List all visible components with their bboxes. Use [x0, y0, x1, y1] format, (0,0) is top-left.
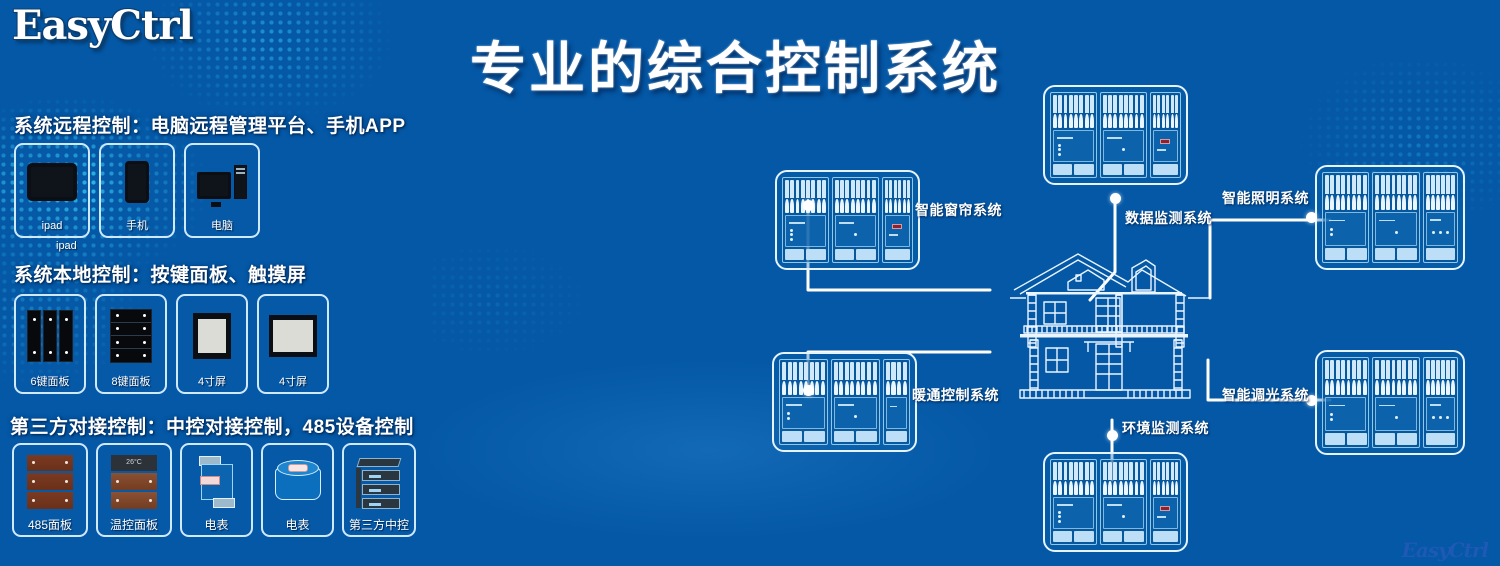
din-module-unit — [1372, 172, 1419, 263]
device-card-label: 电表 — [285, 518, 309, 532]
connector-node-environment — [1107, 430, 1118, 441]
diagram-label-lighting: 智能照明系统 — [1222, 188, 1309, 208]
device-card-label: 手机 — [126, 219, 148, 233]
din-module-unit — [882, 177, 913, 263]
poster-canvas: EasyCtrl 专业的综合控制系统 系统远程控制：电脑远程管理平台、手机APP… — [0, 0, 1500, 566]
diagram-label-hvac: 暖通控制系统 — [912, 385, 999, 405]
third-party-central-control-icon — [344, 445, 414, 518]
four-inch-screen-icon — [178, 296, 246, 375]
module-card-dimming[interactable] — [1315, 350, 1465, 455]
electric-meter-icon — [182, 445, 251, 518]
device-card-ipad[interactable]: ipad — [14, 143, 90, 238]
module-card-curtain[interactable] — [775, 170, 920, 270]
din-module-unit — [883, 359, 910, 445]
device-card-label: 4寸屏 — [279, 375, 307, 389]
device-card-4inch-screen[interactable]: 4寸屏 — [176, 294, 248, 394]
device-card-label: 6键面板 — [30, 375, 69, 389]
module-card-hvac[interactable] — [772, 352, 917, 452]
device-card-label: 8键面板 — [111, 375, 150, 389]
din-module-unit — [1150, 92, 1181, 178]
din-module-unit — [1150, 459, 1181, 545]
section-heading-third-party: 第三方对接控制：中控对接控制，485设备控制 — [10, 412, 414, 439]
device-card-label: 第三方中控 — [349, 518, 409, 532]
device-card-8key-panel[interactable]: 8键面板 — [95, 294, 167, 394]
device-card-electric-meter[interactable]: 电表 — [180, 443, 253, 537]
diagram-label-curtain: 智能窗帘系统 — [915, 200, 1002, 220]
thermostat-display-value: 26°C — [111, 455, 157, 472]
device-card-computer[interactable]: 电脑 — [184, 143, 260, 238]
module-card-environment[interactable] — [1043, 452, 1188, 552]
device-card-thermostat-panel[interactable]: 26°C 温控面板 — [96, 443, 172, 537]
watermark-logo: EasyCtrl — [1402, 538, 1488, 562]
din-module-unit — [1050, 92, 1097, 178]
din-module-unit — [1322, 357, 1369, 448]
din-module-unit — [1372, 357, 1419, 448]
din-module-unit — [831, 359, 880, 445]
connector-node-data-monitoring — [1110, 193, 1121, 204]
device-card-label: ipad — [42, 219, 63, 233]
din-module-unit — [1100, 92, 1147, 178]
section-heading-local-control: 系统本地控制：按键面板、触摸屏 — [14, 260, 307, 287]
device-card-label: 485面板 — [28, 518, 72, 532]
four-inch-screen-wide-icon — [259, 296, 327, 375]
tablet-icon — [16, 145, 88, 219]
device-card-4inch-screen-wide[interactable]: 4寸屏 — [257, 294, 329, 394]
device-card-6key-panel[interactable]: 6键面板 — [14, 294, 86, 394]
smartphone-icon — [101, 145, 173, 219]
din-module-unit — [1050, 459, 1097, 545]
ipad-sub-note: ipad — [56, 240, 77, 252]
din-module-unit — [1322, 172, 1369, 263]
halftone-texture — [430, 210, 730, 390]
desktop-computer-icon — [186, 145, 258, 219]
device-card-485-panel[interactable]: 485面板 — [12, 443, 88, 537]
thermostat-panel-icon: 26°C — [98, 445, 170, 518]
device-card-round-meter[interactable]: 电表 — [261, 443, 334, 537]
brand-logo: EasyCtrl — [12, 2, 193, 49]
din-module-unit — [832, 177, 879, 263]
module-card-data-monitoring[interactable] — [1043, 85, 1188, 185]
section-heading-remote-control: 系统远程控制：电脑远程管理平台、手机APP — [14, 111, 406, 138]
rs485-panel-icon — [14, 445, 86, 518]
device-card-phone[interactable]: 手机 — [99, 143, 175, 238]
diagram-label-data-monitoring: 数据监测系统 — [1125, 208, 1212, 228]
module-card-lighting[interactable] — [1315, 165, 1465, 270]
din-module-unit — [1100, 459, 1147, 545]
connector-node-curtain — [803, 200, 814, 211]
din-module-unit — [782, 177, 829, 263]
device-card-row-local: 6键面板 8键面板 4寸屏 4寸屏 — [14, 294, 329, 394]
round-meter-icon — [263, 445, 332, 518]
device-card-row-third-party: 485面板 26°C 温控面板 电表 电表 — [12, 443, 416, 537]
eight-key-panel-icon — [97, 296, 165, 375]
connector-node-lighting — [1306, 212, 1317, 223]
din-module-unit — [1423, 357, 1458, 448]
connector-node-hvac — [803, 385, 814, 396]
device-card-label: 温控面板 — [110, 518, 158, 532]
din-module-unit — [779, 359, 828, 445]
diagram-label-dimming: 智能调光系统 — [1222, 385, 1309, 405]
device-card-label: 4寸屏 — [198, 375, 226, 389]
device-card-third-party-control[interactable]: 第三方中控 — [342, 443, 416, 537]
six-key-panel-icon — [16, 296, 84, 375]
device-card-row-remote: ipad 手机 电脑 — [14, 143, 260, 238]
device-card-label: 电脑 — [211, 219, 233, 233]
device-card-label: 电表 — [204, 518, 228, 532]
house-illustration — [1010, 248, 1210, 423]
din-module-unit — [1423, 172, 1458, 263]
